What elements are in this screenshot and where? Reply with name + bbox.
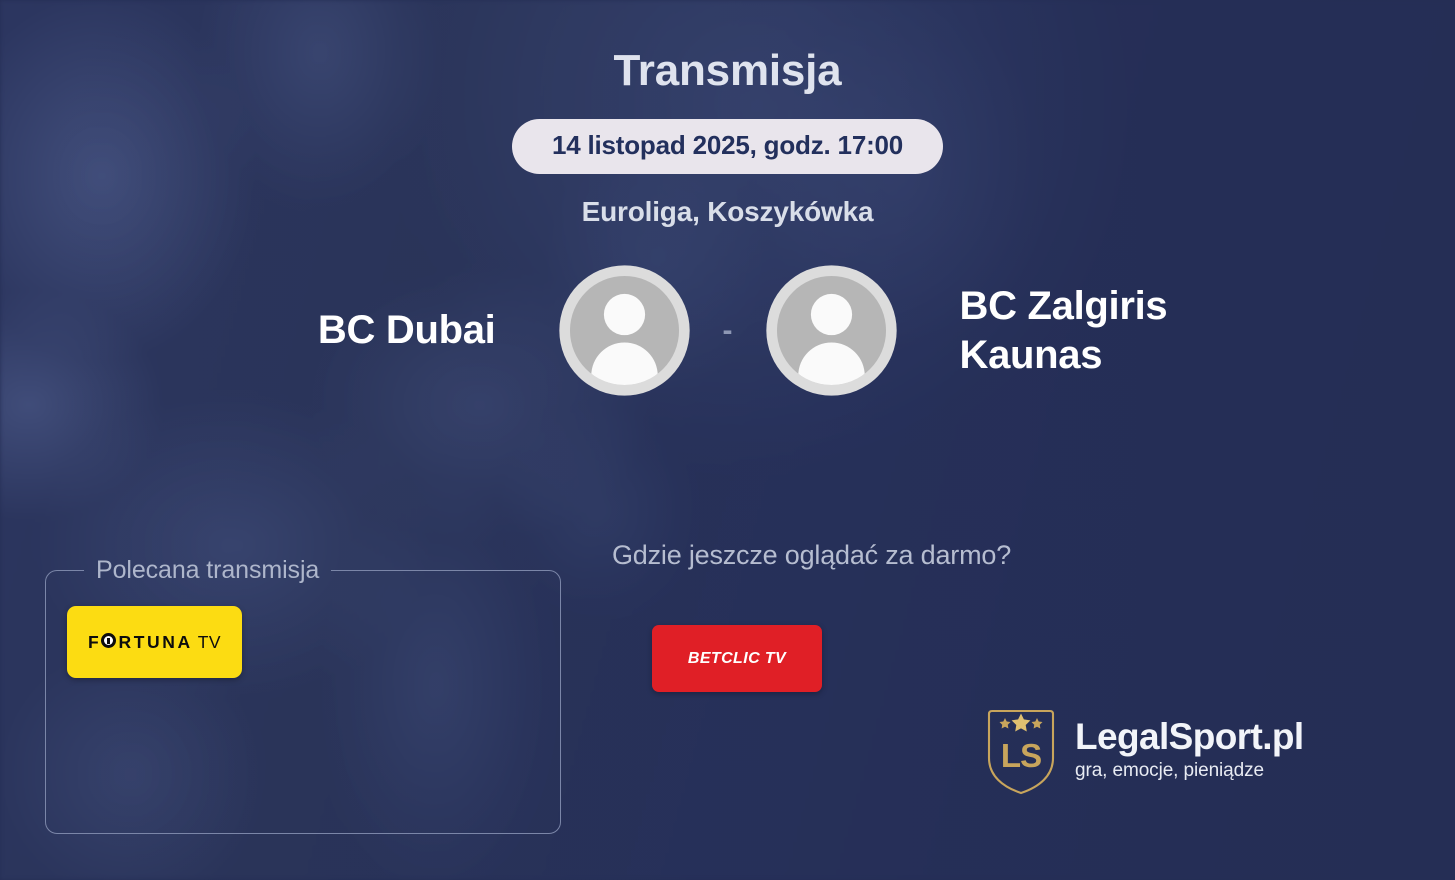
fortuna-logo-rest: RTUNA — [119, 632, 193, 653]
person-placeholder-icon — [558, 264, 691, 397]
match-row: BC Dubai - — [0, 264, 1455, 397]
fortuna-logo-f: F — [88, 632, 101, 653]
fortuna-logo-tv: TV — [198, 632, 221, 653]
home-team-name: BC Dubai — [318, 306, 558, 355]
broadcast-card: Transmisja 14 listopad 2025, godz. 17:00… — [0, 0, 1455, 880]
header: Transmisja 14 listopad 2025, godz. 17:00… — [0, 0, 1455, 228]
away-team: BC Zalgiris Kaunas — [765, 264, 1310, 397]
fortuna-tv-logo-text: FRTUNA TV — [88, 632, 221, 653]
betclic-tv-link[interactable]: BETCLIC TV — [652, 625, 822, 692]
fortuna-tv-logo[interactable]: FRTUNA TV — [67, 606, 242, 678]
away-team-name: BC Zalgiris Kaunas — [898, 282, 1243, 380]
home-team: BC Dubai — [146, 264, 691, 397]
fortuna-logo-o-icon — [101, 633, 116, 648]
free-section-title: Gdzie jeszcze oglądać za darmo? — [612, 540, 1011, 571]
match-datetime-badge: 14 listopad 2025, godz. 17:00 — [512, 119, 943, 174]
broadcast-options: Polecana transmisja FRTUNA TV Gdzie jesz… — [0, 528, 1455, 880]
fortuna-tv-link[interactable]: FRTUNA TV — [67, 606, 242, 678]
page-title: Transmisja — [0, 48, 1455, 94]
league-label: Euroliga, Koszykówka — [0, 196, 1455, 228]
legalsport-branding[interactable]: LS LegalSport.pl gra, emocje, pieniądze — [985, 704, 1304, 796]
betclic-tv-logo-text: BETCLIC TV — [688, 650, 786, 668]
recommended-broadcast-legend: Polecana transmisja — [84, 556, 331, 585]
score-separator: - — [691, 316, 765, 346]
recommended-broadcast-box: Polecana transmisja — [45, 556, 561, 834]
legalsport-tagline: gra, emocje, pieniądze — [1075, 761, 1304, 782]
ls-shield-icon: LS — [985, 704, 1057, 796]
legalsport-text: LegalSport.pl gra, emocje, pieniądze — [1075, 718, 1304, 783]
legalsport-name: LegalSport.pl — [1075, 718, 1304, 757]
person-placeholder-icon — [765, 264, 898, 397]
svg-text:LS: LS — [1001, 737, 1041, 774]
